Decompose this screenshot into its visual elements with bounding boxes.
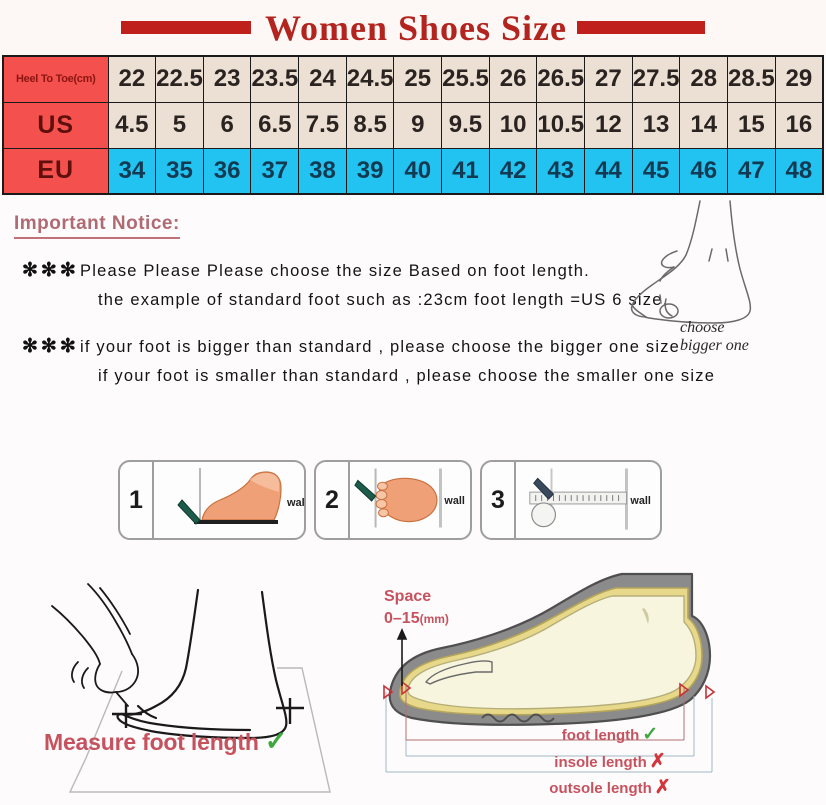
legend-outsole-length-text: outsole length [549, 780, 652, 797]
cell-heel-1: 22.5 [156, 56, 204, 102]
cell-us-7: 9.5 [442, 102, 490, 148]
title-bar-right-decoration [577, 21, 705, 34]
cell-heel-13: 28.5 [728, 56, 776, 102]
cross-icon-insole-length: ✗ [650, 751, 666, 772]
cell-eu-13: 47 [728, 148, 776, 194]
cell-heel-0: 22 [108, 56, 156, 102]
page-header: Women Shoes Size [0, 0, 826, 55]
step-panel-1: 1 wall [118, 460, 306, 540]
cell-heel-14: 29 [775, 56, 823, 102]
cell-eu-14: 48 [775, 148, 823, 194]
step-illustration-1: wall [154, 462, 304, 538]
legend-foot-length: foot length✓ [490, 722, 730, 749]
row-label-us: US [3, 102, 108, 148]
notice-heading: Important Notice: [14, 213, 180, 239]
cell-us-12: 14 [680, 102, 728, 148]
step-number-3: 3 [482, 462, 516, 538]
space-value-row: 0–15(mm) [384, 608, 449, 630]
cell-us-2: 6 [203, 102, 251, 148]
check-icon-foot-length: ✓ [642, 724, 658, 745]
legend-outsole-length: outsole length✗ [490, 775, 730, 802]
cell-heel-2: 23 [203, 56, 251, 102]
cell-eu-12: 46 [680, 148, 728, 194]
length-legend: foot length✓ insole length✗ outsole leng… [490, 722, 730, 802]
cell-eu-1: 35 [156, 148, 204, 194]
foot-sole-view-icon: wall [350, 462, 470, 538]
legend-insole-length-text: insole length [554, 754, 647, 771]
step-illustration-2: wall [350, 462, 470, 538]
row-label-eu: EU [3, 148, 108, 194]
space-unit: (mm) [420, 612, 449, 626]
cell-heel-5: 24.5 [346, 56, 394, 102]
cell-eu-9: 43 [537, 148, 585, 194]
notice-line-2b: if your foot is smaller than standard , … [80, 362, 715, 391]
cell-heel-4: 24 [299, 56, 347, 102]
step-panel-2: 2 wall [314, 460, 472, 540]
measure-foot-illustration-panel: Measure foot length✓ [0, 556, 372, 800]
cell-eu-2: 36 [203, 148, 251, 194]
size-chart-table-wrapper: Heel To Toe(cm) 22 22.5 23 23.5 24 24.5 … [0, 55, 826, 195]
step-number-1: 1 [120, 462, 154, 538]
space-label-text: Space [384, 586, 449, 608]
title-bar-left-decoration [121, 21, 251, 34]
table-row-heel-to-toe: Heel To Toe(cm) 22 22.5 23 23.5 24 24.5 … [3, 56, 823, 102]
measurement-steps: 1 wall 2 [0, 452, 826, 548]
page-title: Women Shoes Size [265, 7, 567, 49]
cell-eu-10: 44 [585, 148, 633, 194]
cell-heel-7: 25.5 [442, 56, 490, 102]
cell-heel-11: 27.5 [632, 56, 680, 102]
cell-heel-6: 25 [394, 56, 442, 102]
notice-stars-2: ✻✻✻ [14, 333, 80, 358]
cell-heel-10: 27 [585, 56, 633, 102]
cell-us-8: 10 [489, 102, 537, 148]
wall-label-2: wall [443, 495, 464, 507]
green-check-icon: ✓ [265, 726, 287, 756]
notice-line-1b: the example of standard foot such as :23… [80, 286, 668, 315]
step-number-2: 2 [316, 462, 350, 538]
cell-heel-12: 28 [680, 56, 728, 102]
cell-us-10: 12 [585, 102, 633, 148]
legend-insole-length: insole length✗ [490, 749, 730, 776]
cell-us-4: 7.5 [299, 102, 347, 148]
table-row-eu: EU 34 35 36 37 38 39 40 41 42 43 44 45 4… [3, 148, 823, 194]
notice-line-1a: Please Please Please choose the size Bas… [80, 257, 668, 286]
important-notice-section: Important Notice: ✻✻✻ Please Please Plea… [0, 195, 826, 391]
cell-eu-3: 37 [251, 148, 299, 194]
sketch-caption: choose bigger one [680, 319, 790, 356]
step-panel-3: 3 wall [480, 460, 662, 540]
step-illustration-3: wall [516, 462, 660, 538]
notice-stars-1: ✻✻✻ [14, 257, 80, 282]
legend-foot-length-text: foot length [562, 727, 639, 744]
sketch-caption-line1: choose [680, 319, 790, 337]
cell-heel-8: 26 [489, 56, 537, 102]
sketch-caption-line2: bigger one [680, 337, 790, 355]
cell-us-0: 4.5 [108, 102, 156, 148]
cell-eu-5: 39 [346, 148, 394, 194]
cell-eu-7: 41 [442, 148, 490, 194]
wall-label-3: wall [629, 495, 650, 507]
row-label-heel-to-toe: Heel To Toe(cm) [3, 56, 108, 102]
foot-side-view-icon: wall [154, 462, 304, 538]
shoe-cross-section-panel: Space 0–15(mm) foot length✓ insole lengt… [372, 556, 826, 800]
cell-us-5: 8.5 [346, 102, 394, 148]
cell-heel-9: 26.5 [537, 56, 585, 102]
hand-measuring-foot-icon [0, 556, 372, 800]
cell-eu-0: 34 [108, 148, 156, 194]
size-chart-table: Heel To Toe(cm) 22 22.5 23 23.5 24 24.5 … [2, 55, 824, 195]
measure-foot-caption-text: Measure foot length [44, 729, 259, 755]
cell-eu-8: 42 [489, 148, 537, 194]
table-row-us: US 4.5 5 6 6.5 7.5 8.5 9 9.5 10 10.5 12 … [3, 102, 823, 148]
cell-us-9: 10.5 [537, 102, 585, 148]
space-measurement-label: Space 0–15(mm) [384, 586, 449, 629]
cell-heel-3: 23.5 [251, 56, 299, 102]
cell-us-13: 15 [728, 102, 776, 148]
cross-icon-outsole-length: ✗ [655, 777, 671, 798]
cell-eu-4: 38 [299, 148, 347, 194]
tape-measure-icon: wall [516, 462, 660, 538]
cell-us-6: 9 [394, 102, 442, 148]
cell-us-3: 6.5 [251, 102, 299, 148]
cell-us-14: 16 [775, 102, 823, 148]
cell-us-11: 13 [632, 102, 680, 148]
cell-eu-6: 40 [394, 148, 442, 194]
cell-us-1: 5 [156, 102, 204, 148]
wall-label-1: wall [286, 497, 304, 509]
notice-line-2a: if your foot is bigger than standard , p… [80, 333, 715, 362]
measure-foot-caption: Measure foot length✓ [44, 726, 287, 757]
space-value: 0–15 [384, 610, 420, 627]
cell-eu-11: 45 [632, 148, 680, 194]
